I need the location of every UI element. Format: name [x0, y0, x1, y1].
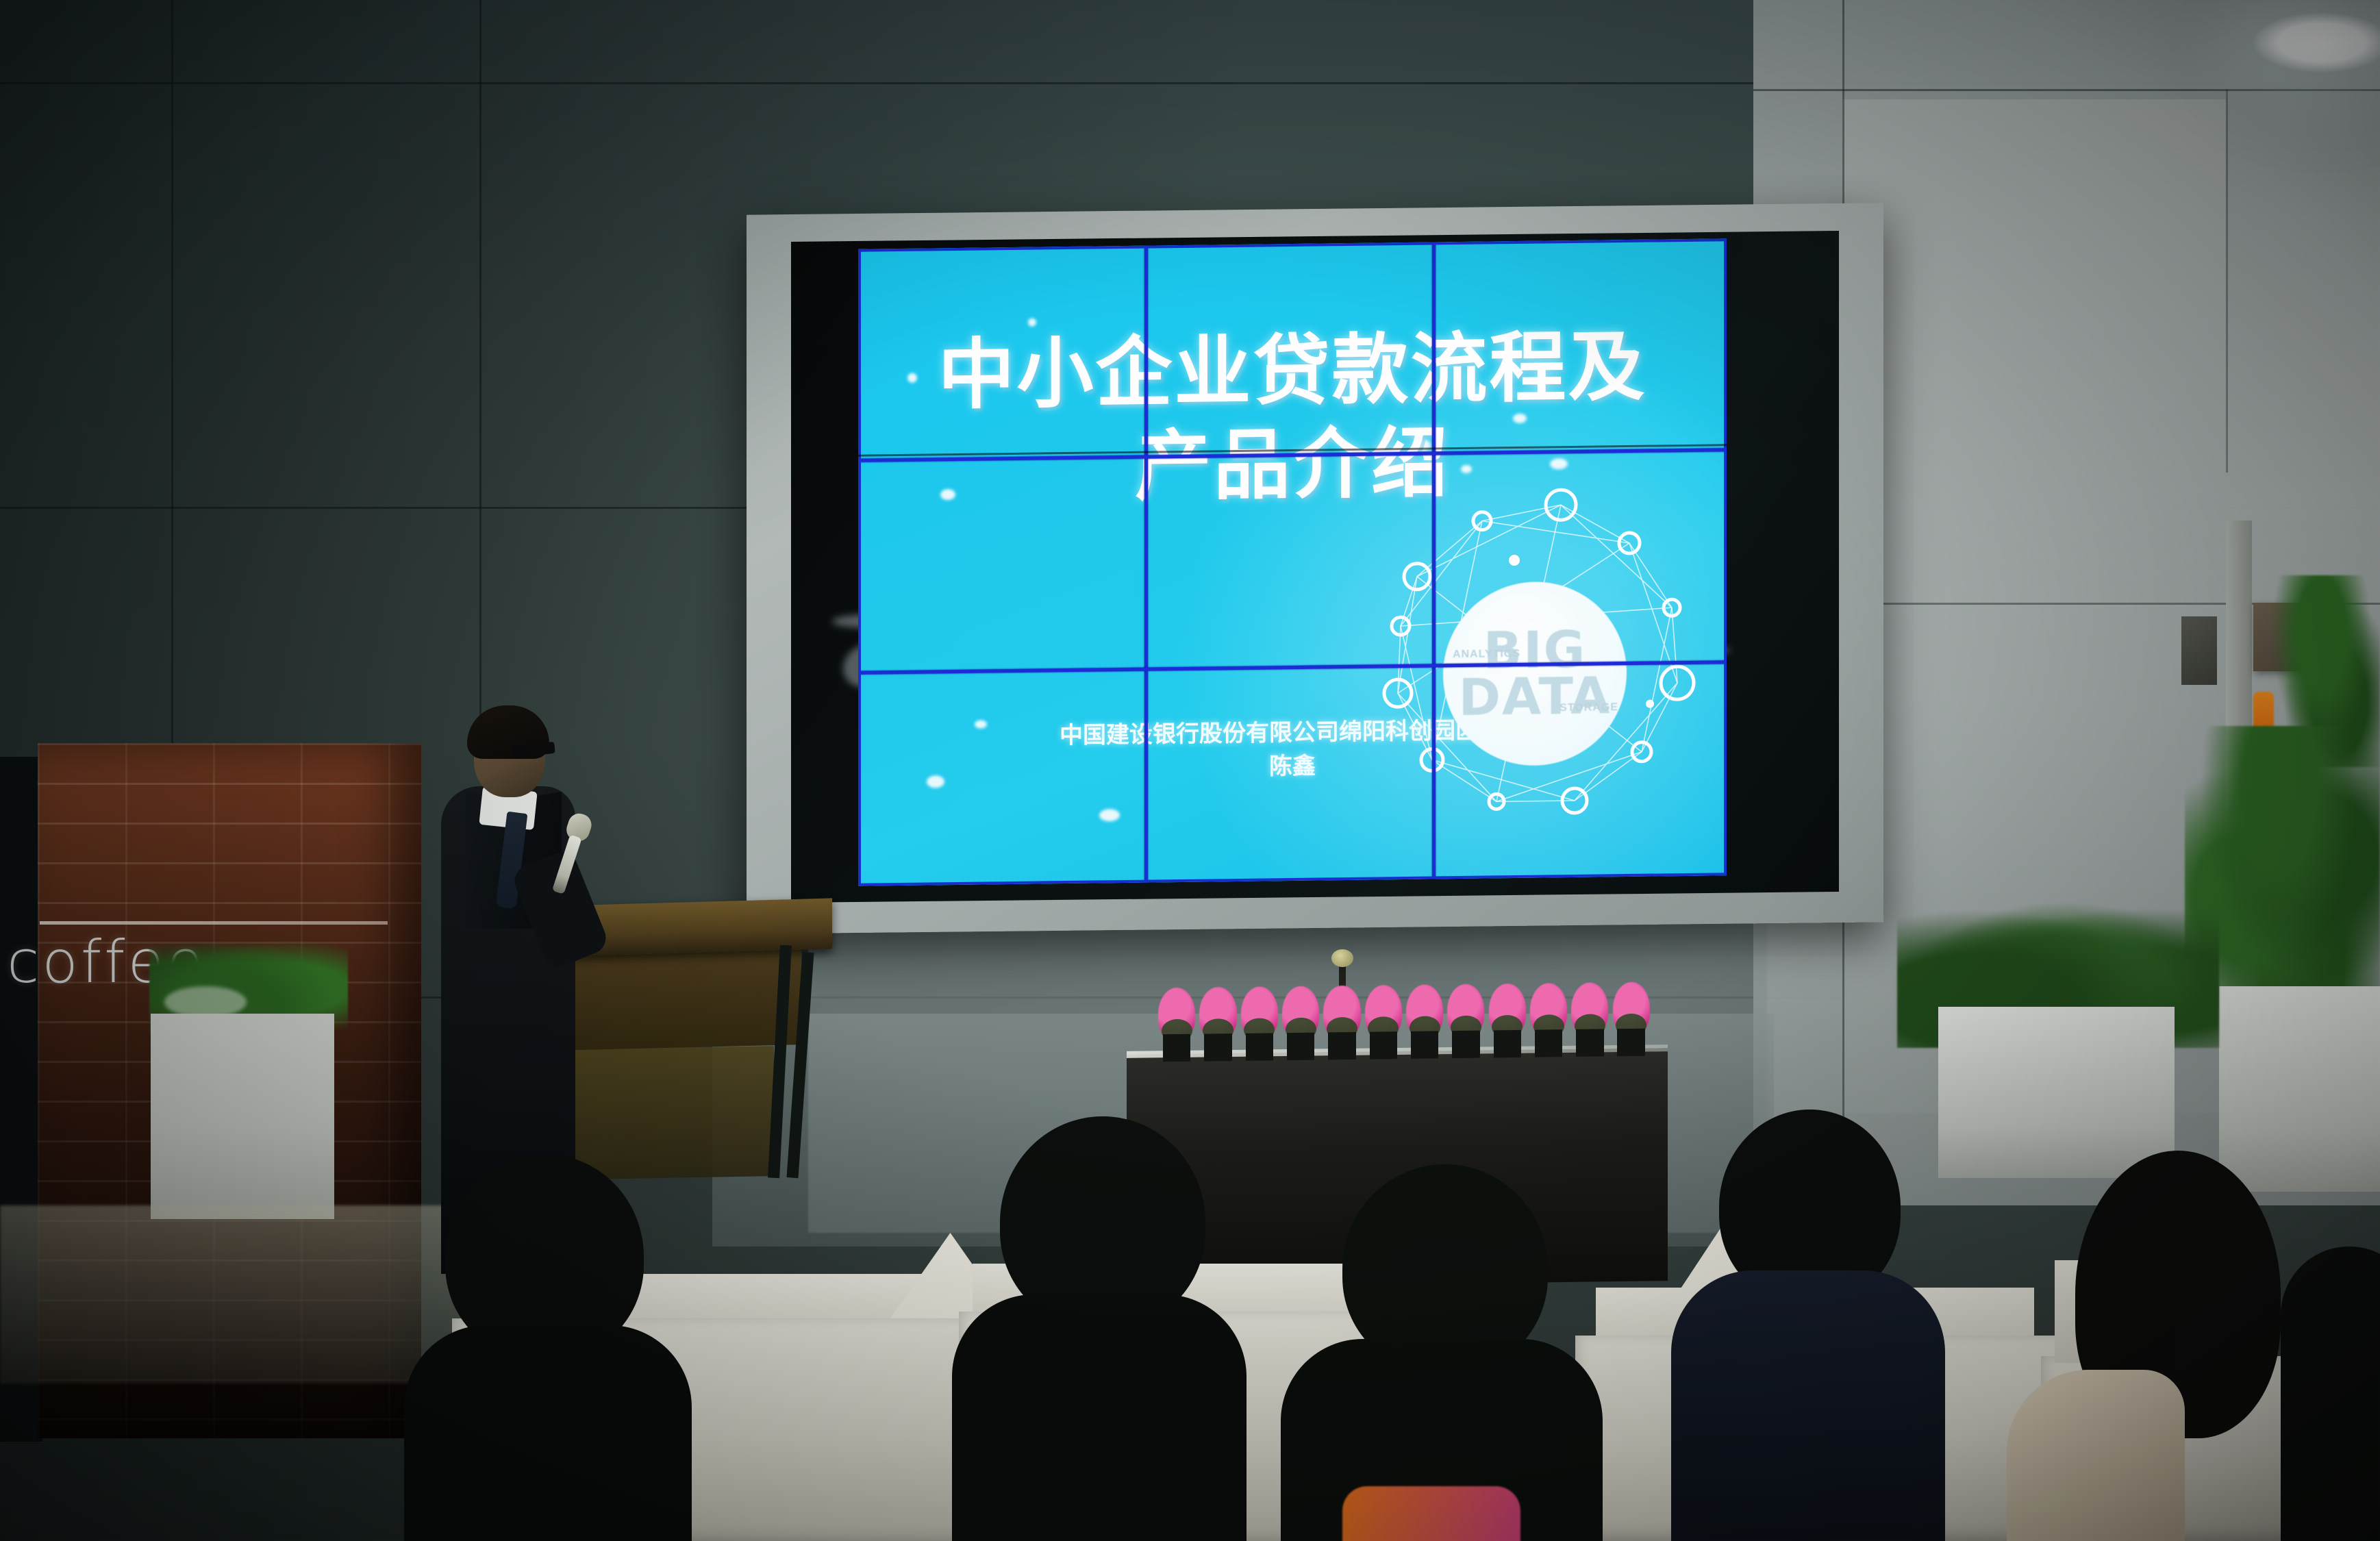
photo-scene: 中小企业贷款流程及 产品介绍 中国建设银行股份有限公司绵阳科创园区支行 陈鑫 — [0, 0, 2380, 1541]
presentation-slide[interactable]: 中小企业贷款流程及 产品介绍 中国建设银行股份有限公司绵阳科创园区支行 陈鑫 — [858, 238, 1727, 886]
flower-pot-base — [1370, 1031, 1398, 1059]
left-planter-box — [151, 1014, 334, 1219]
flower-pot — [1240, 978, 1279, 1061]
flower-pot — [1612, 974, 1651, 1057]
audience-member — [1281, 1164, 1603, 1541]
flower-pot-base — [1617, 1029, 1645, 1056]
audience-member — [1671, 1110, 1945, 1541]
flower-pot-base — [1328, 1032, 1356, 1060]
flower-pot-base — [1535, 1029, 1563, 1057]
flower-pot — [1446, 976, 1485, 1059]
flower-pot-base — [1163, 1034, 1191, 1062]
flower-pot-base — [1576, 1029, 1604, 1056]
flower-pot — [1199, 979, 1237, 1062]
wall-fixture-small — [2181, 616, 2217, 685]
audience-cream-coat — [2007, 1370, 2185, 1541]
panel-bezel-edge — [858, 249, 861, 886]
audience-member — [952, 1116, 1247, 1541]
panel-bezel-edge — [1724, 238, 1727, 875]
ceiling-light-icon — [2253, 12, 2380, 73]
flower-pot — [1488, 975, 1527, 1058]
panel-bezel-vertical — [1144, 246, 1148, 883]
flower-pot-base — [1204, 1033, 1232, 1061]
flower-pot — [1405, 976, 1444, 1059]
slide-title-line-1: 中小企业贷款流程及 — [894, 320, 1691, 423]
big-data-network-graphic: ANALYTICS STORAGE BIG DATA — [1355, 477, 1712, 838]
flower-pot — [1364, 977, 1403, 1060]
audience-patterned-scarf — [1342, 1486, 1520, 1541]
audience-member — [2281, 1205, 2380, 1541]
flower-pot — [1157, 979, 1196, 1062]
audience-member — [404, 1154, 692, 1541]
flower-pot — [1281, 977, 1320, 1060]
wall-seam-vertical — [479, 0, 481, 719]
audience-shoulders — [952, 1294, 1247, 1541]
audience-puffer-jacket — [1671, 1270, 1945, 1541]
flower-pot-base — [1452, 1031, 1480, 1058]
panel-bezel-vertical — [1432, 242, 1436, 879]
word-cloud-analytics: ANALYTICS — [1453, 648, 1520, 661]
flower-pot-base — [1494, 1030, 1522, 1057]
flower-pot — [1570, 974, 1609, 1057]
slide-sparkle — [1028, 318, 1036, 327]
audience-shoulders — [404, 1325, 692, 1541]
audience-shoulders — [2281, 1246, 2380, 1541]
word-cloud-storage: STORAGE — [1559, 701, 1618, 714]
coffee-sign-rule — [40, 921, 388, 925]
wall-seam-horizontal — [1753, 89, 2380, 91]
flower-pot-base — [1246, 1033, 1274, 1060]
table-mic-head — [1331, 949, 1353, 967]
flower-pot — [1323, 977, 1361, 1060]
flower-pot-base — [1287, 1033, 1315, 1060]
flower-pot — [1529, 975, 1568, 1057]
wall-seam-vertical — [2226, 89, 2228, 473]
flower-pot-row — [1157, 968, 1651, 1062]
flower-pot-base — [1411, 1031, 1439, 1058]
